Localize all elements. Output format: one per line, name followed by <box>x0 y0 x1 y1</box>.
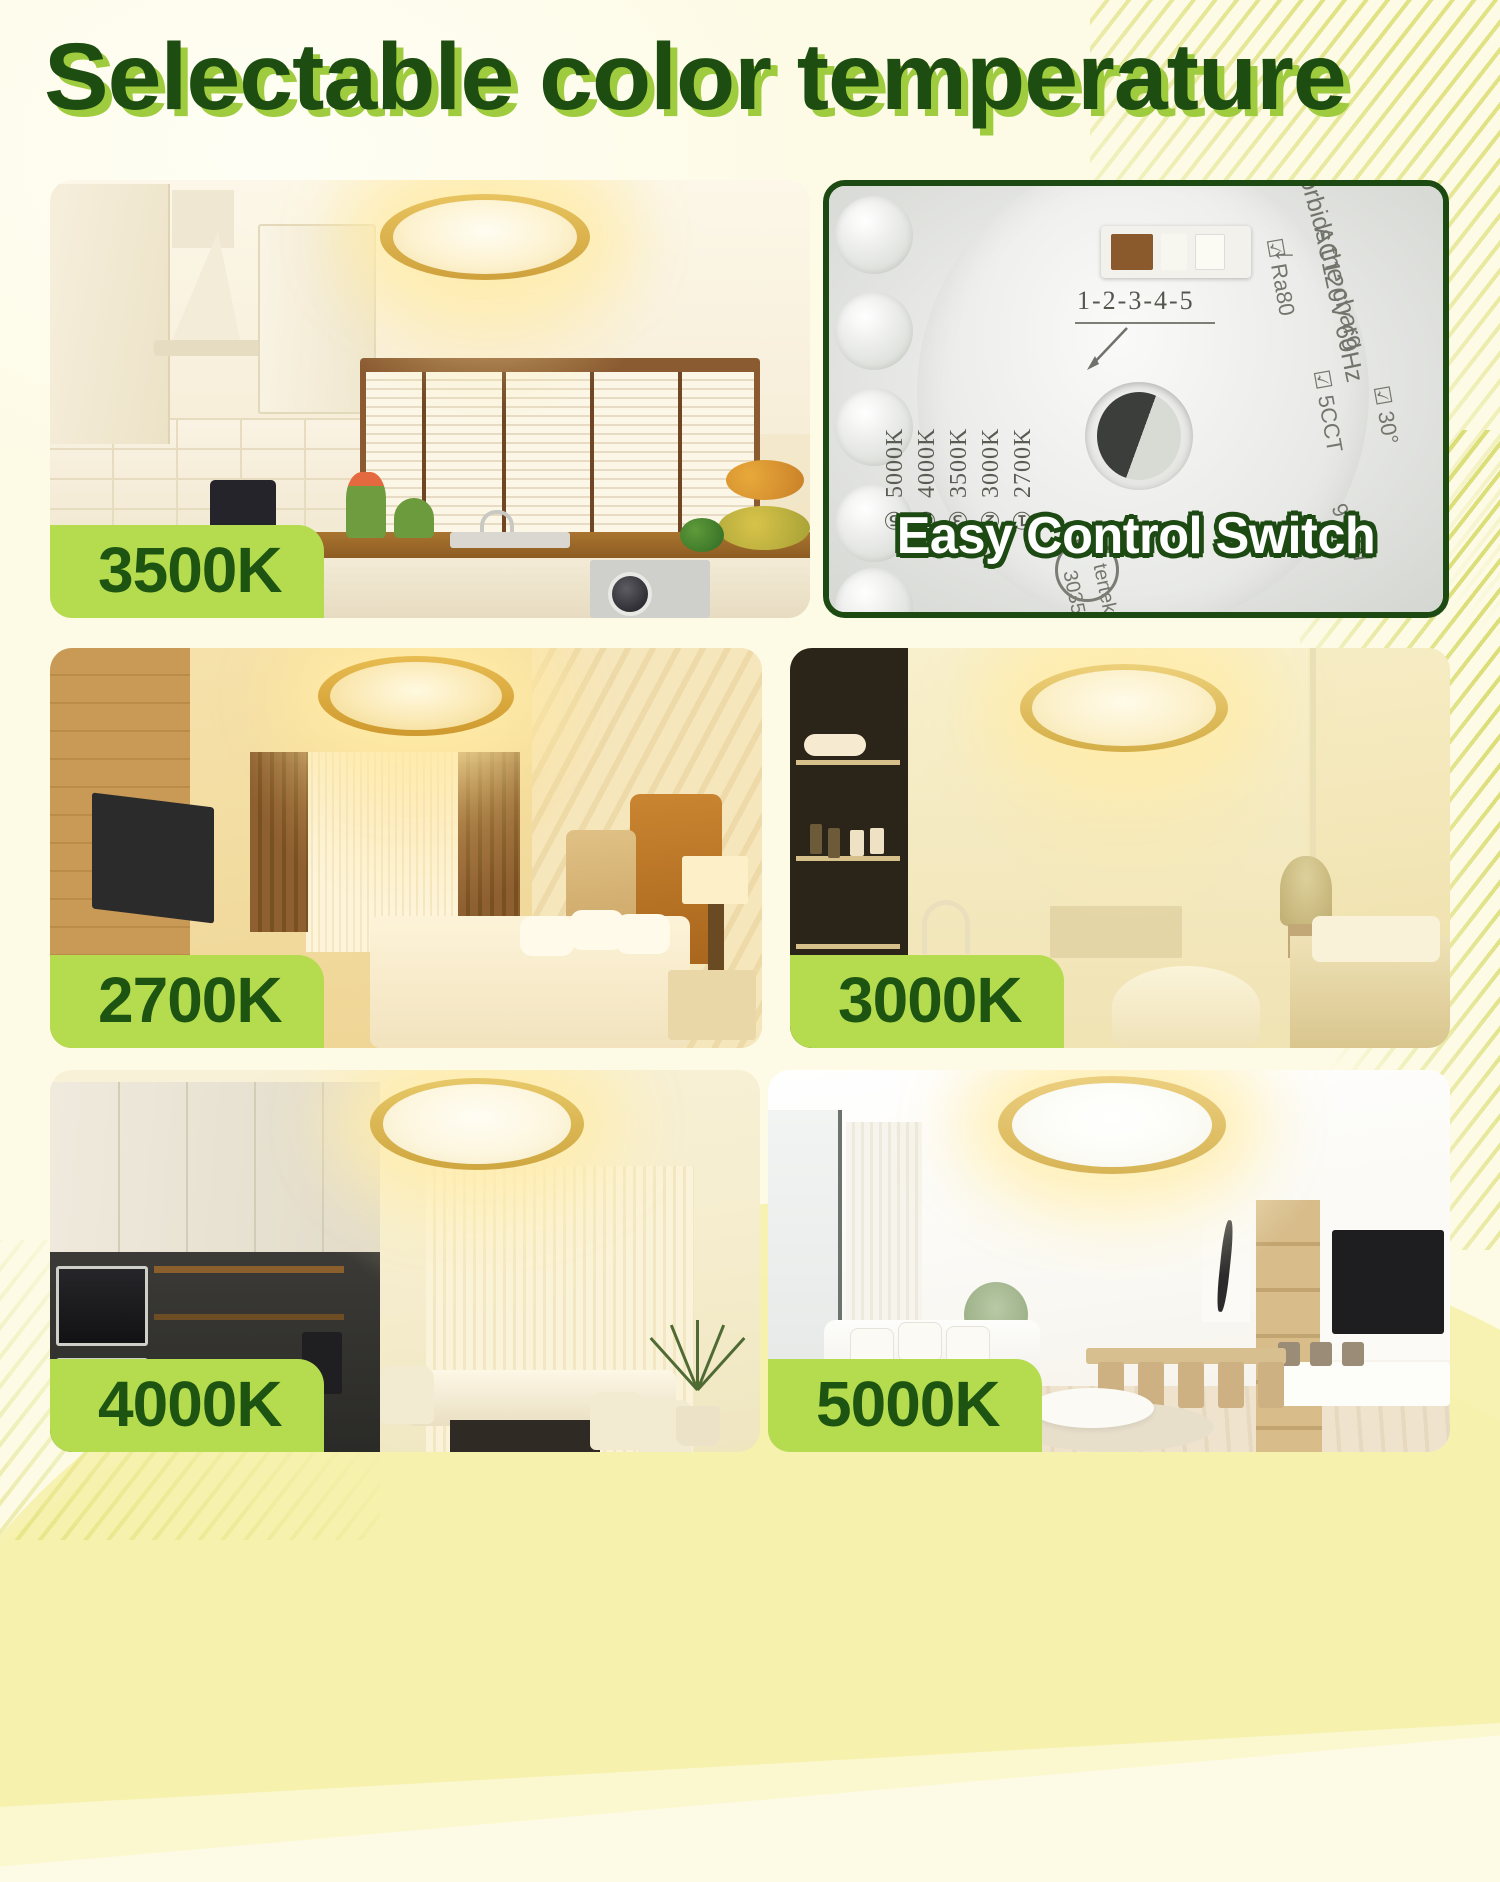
panel-dining-4000k: 4000K <box>50 1070 760 1452</box>
switch-scale-label: 1-2-3-4-5 <box>1077 286 1195 316</box>
page-title: Selectable color temperature <box>44 30 1492 125</box>
ceiling-lamp-icon <box>318 656 514 736</box>
center-knob[interactable] <box>1085 382 1193 490</box>
cct-badge-3500k: 3500K <box>50 525 324 618</box>
cct-badge-5000k: 5000K <box>768 1359 1042 1452</box>
dip-switch[interactable] <box>1101 226 1251 278</box>
ceiling-lamp-icon <box>370 1078 584 1170</box>
ceiling-lamp-icon <box>1020 664 1228 752</box>
panel-kitchen-3500k: 3500K <box>50 180 810 618</box>
cct-badge-3000k: 3000K <box>790 955 1064 1048</box>
ceiling-lamp-icon <box>380 194 590 280</box>
arrow-down-icon <box>1077 326 1137 374</box>
ceiling-lamp-icon <box>998 1076 1226 1174</box>
panel-bathroom-3000k: 3000K <box>790 648 1450 1048</box>
panel-bedroom-2700k: 2700K <box>50 648 762 1048</box>
switch-caption: Easy Control Switch <box>838 506 1434 566</box>
panel-living-5000k: 5000K <box>768 1070 1450 1452</box>
panel-control-switch: ← 1-2-3-4-5 ① 2700K ② 3000K ③ 3500K ④ 40… <box>823 180 1449 618</box>
cct-badge-4000k: 4000K <box>50 1359 324 1452</box>
cct-badge-2700k: 2700K <box>50 955 324 1048</box>
